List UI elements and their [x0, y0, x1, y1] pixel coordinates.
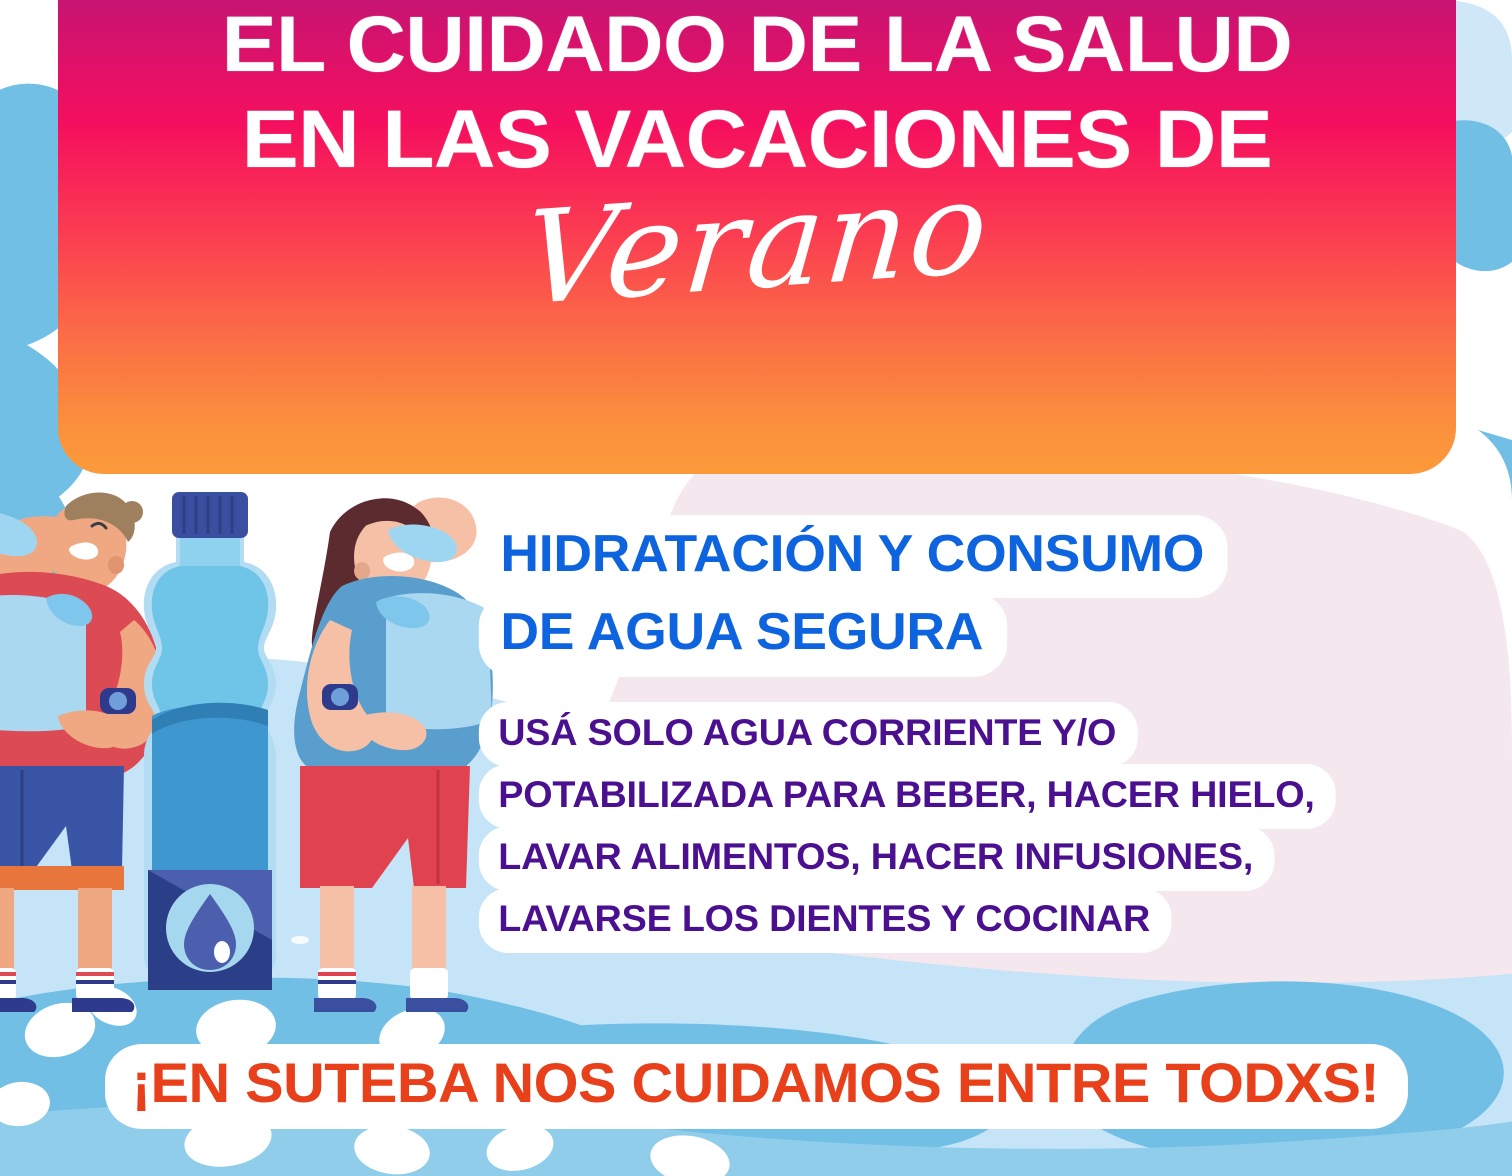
section-body-line-1: USÁ SOLO AGUA CORRIENTE Y/O	[486, 709, 1130, 760]
woman-drinking-water-figure	[294, 498, 493, 1012]
man-shorts-hem	[0, 866, 124, 890]
man-sock-stripe-3	[76, 972, 114, 976]
man-sock-stripe-2	[0, 980, 16, 984]
people-and-bottle-illustration	[0, 470, 500, 1015]
man-sock-stripe-1	[0, 972, 16, 976]
man-sock-stripe-4	[76, 980, 114, 984]
man-ear	[108, 556, 124, 574]
footer-slogan-text: ¡EN SUTEBA NOS CUIDAMOS ENTRE TODXS!	[113, 1052, 1399, 1121]
section-heading-block: HIDRATACIÓN Y CONSUMO DE AGUA SEGURA	[486, 522, 1486, 679]
droplet-shine	[214, 941, 230, 963]
title-script-verano: Verano	[519, 164, 995, 326]
woman-sock-right	[410, 968, 448, 1000]
illustration-group	[0, 470, 500, 1015]
section-body-block: USÁ SOLO AGUA CORRIENTE Y/O POTABILIZADA…	[486, 709, 1486, 958]
title-line-1: EL CUIDADO DE LA SALUD	[47, 0, 1468, 88]
water-bottle-figure	[144, 492, 276, 990]
section-body-line-4: LAVARSE LOS DIENTES Y COCINAR	[486, 895, 1164, 946]
woman-watch-face	[331, 688, 349, 706]
content-column: HIDRATACIÓN Y CONSUMO DE AGUA SEGURA USÁ…	[486, 522, 1486, 957]
wave-right-edge	[1478, 430, 1512, 500]
woman-sock-stripe-2	[318, 980, 356, 984]
man-shoe-left	[0, 998, 36, 1012]
man-shorts	[0, 766, 124, 870]
woman-shoe-right	[406, 998, 468, 1012]
man-leg-left	[0, 888, 14, 976]
man-hair-bun	[121, 501, 143, 523]
woman-sock-stripe-1	[318, 972, 356, 976]
section-body-line-2: POTABILIZADA PARA BEBER, HACER HIELO,	[486, 771, 1329, 822]
man-shoe-right	[72, 998, 134, 1012]
section-body-line-3: LAVAR ALIMENTOS, HACER INFUSIONES,	[486, 833, 1267, 884]
header-gradient-card: EL CUIDADO DE LA SALUD EN LAS VACACIONES…	[58, 0, 1456, 474]
man-drinking-water-figure	[0, 493, 165, 1013]
woman-shoe-left	[314, 998, 376, 1012]
woman-leg-left	[320, 886, 354, 976]
footer-slogan-block: ¡EN SUTEBA NOS CUIDAMOS ENTRE TODXS!	[0, 1052, 1512, 1121]
header-text-group: EL CUIDADO DE LA SALUD EN LAS VACACIONES…	[58, 0, 1456, 308]
woman-leg-right	[412, 886, 446, 976]
poster-root: EL CUIDADO DE LA SALUD EN LAS VACACIONES…	[0, 0, 1512, 1176]
man-leg-right	[78, 888, 112, 976]
man-watch-face	[109, 692, 127, 710]
bottle-neck	[180, 536, 240, 566]
woman-shorts	[300, 766, 470, 888]
section-heading-line-1: HIDRATACIÓN Y CONSUMO	[486, 522, 1221, 591]
section-heading-line-2: DE AGUA SEGURA	[486, 600, 1000, 669]
woman-ear	[354, 562, 370, 580]
